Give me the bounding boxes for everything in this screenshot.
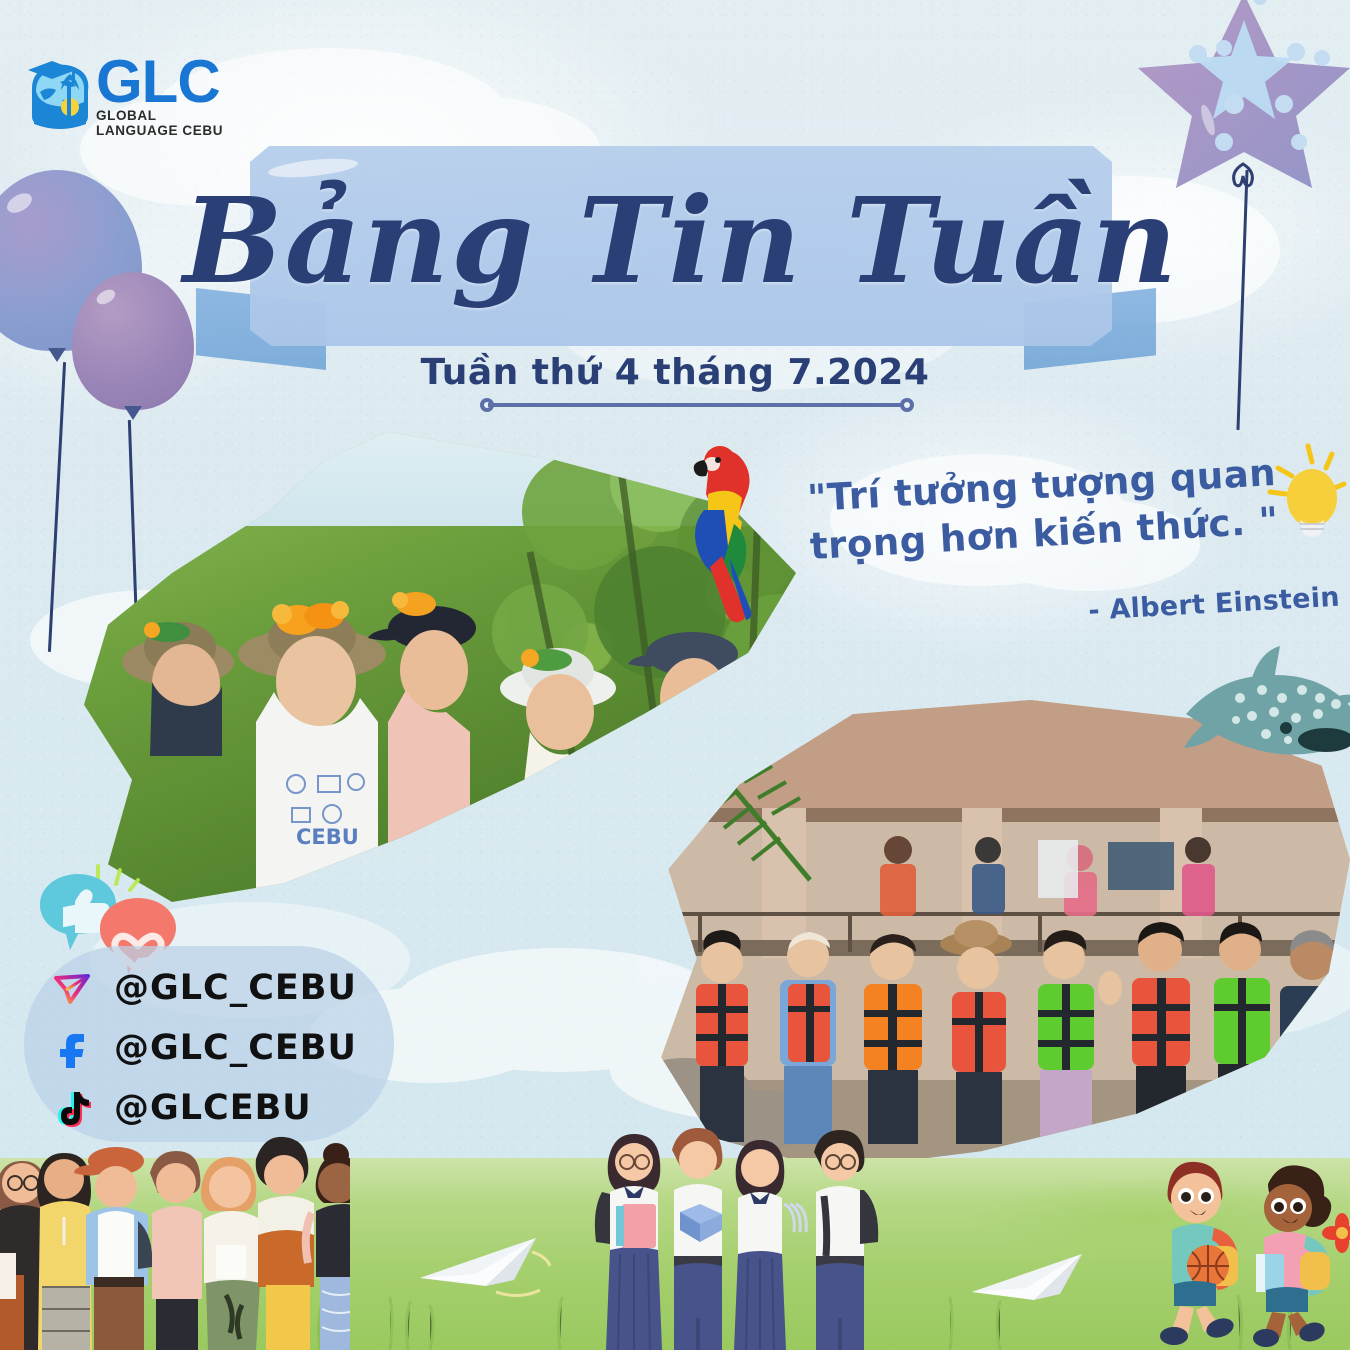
- tiktok-icon: [52, 1088, 92, 1128]
- logo-wordmark: GLC: [96, 52, 236, 112]
- illustrated-kids-walking: [1146, 1150, 1350, 1350]
- svg-text:CEBU: CEBU: [296, 825, 359, 849]
- instagram-icon: [52, 968, 92, 1008]
- subtitle-rule: [480, 398, 914, 412]
- poster-canvas: GLC GLOBAL LANGUAGE CEBU: [0, 0, 1350, 1350]
- facebook-icon: [52, 1028, 92, 1068]
- page-title: Bảng Tin Tuần: [250, 140, 1112, 340]
- scarlet-macaw-icon: [660, 438, 780, 623]
- instagram-handle: @GLC_CEBU: [114, 968, 357, 1008]
- paper-plane-icon-2: [970, 1240, 1120, 1314]
- brand-logo[interactable]: GLC GLOBAL LANGUAGE CEBU: [26, 52, 236, 144]
- globe-palm-graduation-cap-icon: [26, 58, 92, 132]
- social-row-facebook[interactable]: @GLC_CEBU: [52, 1028, 357, 1068]
- social-row-tiktok[interactable]: @GLCEBU: [52, 1088, 312, 1128]
- kite-bow-icon: [1222, 160, 1264, 194]
- whale-shark-icon: [1178, 636, 1350, 784]
- illustrated-students-in-uniform: [594, 1120, 894, 1350]
- rule-bar: [488, 403, 906, 407]
- tiktok-handle: @GLCEBU: [114, 1088, 312, 1128]
- issue-subtitle: Tuần thứ 4 tháng 7.2024: [0, 352, 1350, 393]
- lightbulb-icon: [1252, 440, 1348, 548]
- paper-plane-icon: [416, 1222, 576, 1300]
- illustrated-young-adults-group: [0, 1125, 350, 1350]
- rule-dot-right: [900, 398, 914, 412]
- social-row-instagram[interactable]: @GLC_CEBU: [52, 968, 357, 1008]
- facebook-handle: @GLC_CEBU: [114, 1028, 357, 1068]
